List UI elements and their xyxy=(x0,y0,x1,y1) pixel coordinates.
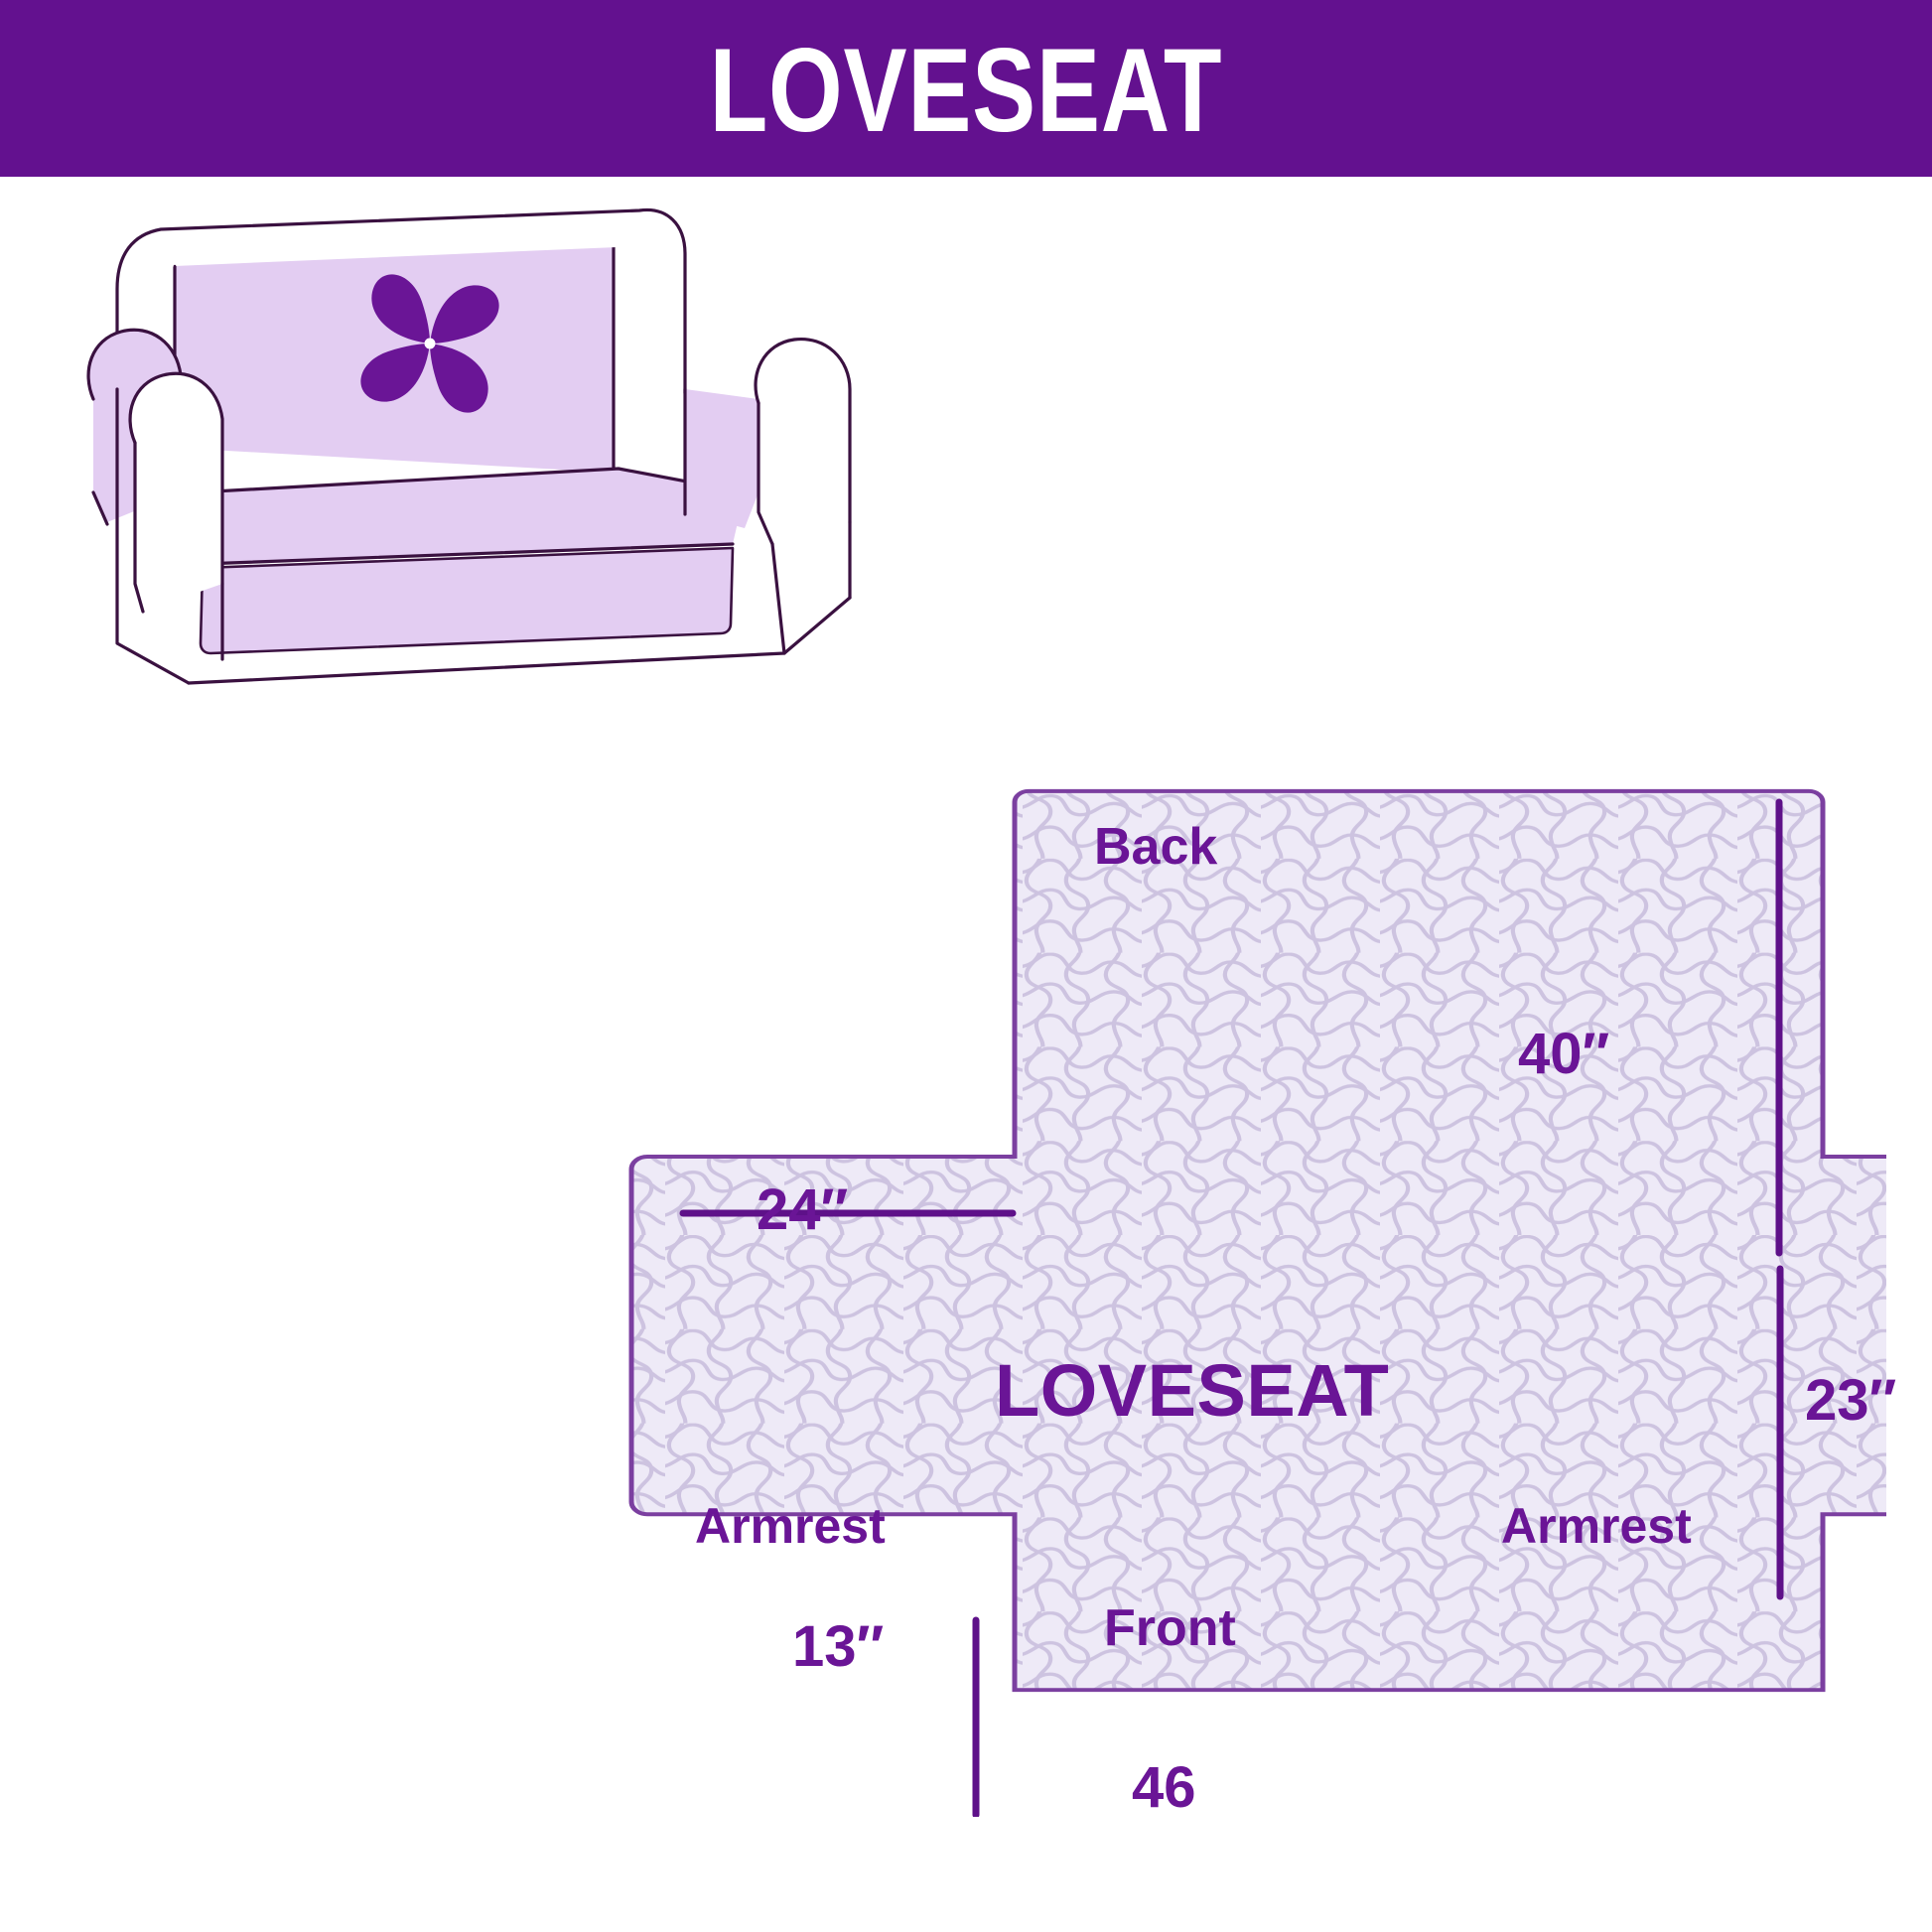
page-title: LOVESEAT xyxy=(710,31,1223,150)
dimension-label-front-height: 13″ xyxy=(792,1618,884,1676)
dimension-label-back-width: 24″ xyxy=(757,1181,848,1239)
panel-label-center: LOVESEAT xyxy=(995,1354,1389,1428)
panel-label-armrest-right: Armrest xyxy=(1501,1501,1692,1551)
dimension-label-back-height: 40″ xyxy=(1518,1026,1609,1083)
panel-label-front: Front xyxy=(1104,1602,1236,1654)
loveseat-illustration: .oline { fill:none; stroke:#3a1140; stro… xyxy=(77,195,951,721)
panel-label-armrest-left: Armrest xyxy=(695,1501,886,1551)
header-banner: LOVESEAT xyxy=(0,0,1932,177)
dimension-label-armrest-depth: 23″ xyxy=(1805,1372,1896,1430)
panel-label-back: Back xyxy=(1094,821,1217,873)
dimension-label-total-width: 46 xyxy=(1132,1759,1196,1817)
sofa-armrest-right xyxy=(685,340,850,544)
slipcover-cross-diagram: .panelstroke { fill:url(#quilt); stroke:… xyxy=(596,764,1886,1817)
